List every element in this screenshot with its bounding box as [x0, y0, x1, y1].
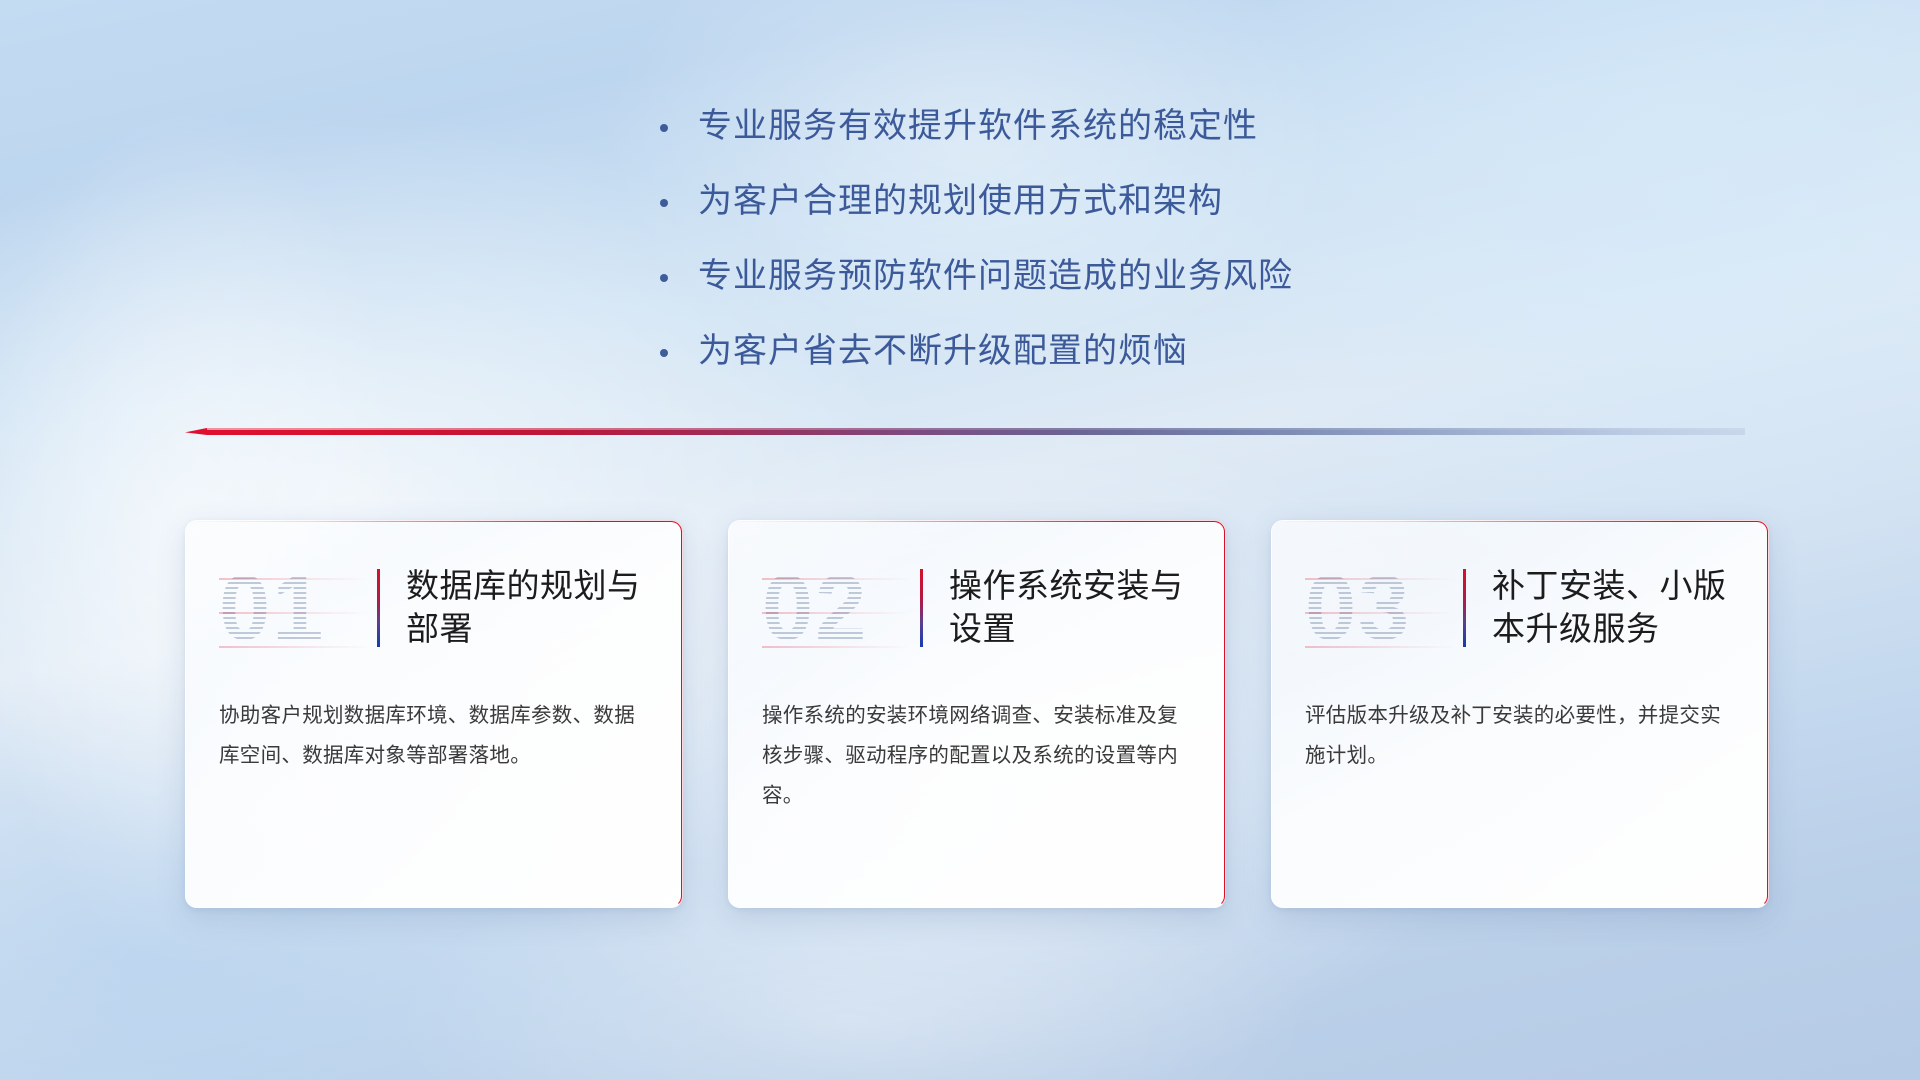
bullet-dot-icon [660, 349, 668, 357]
card-title: 数据库的规划与部署 [406, 565, 642, 651]
card-title-accent-bar [1463, 569, 1466, 647]
card-title: 补丁安装、小版本升级服务 [1492, 565, 1728, 651]
card-header: 03 补丁安装、小版本升级服务 [1271, 520, 1769, 696]
card-body-text: 协助客户规划数据库环境、数据库参数、数据库空间、数据库对象等部署落地。 [185, 696, 683, 776]
bullet-item-text: 专业服务有效提升软件系统的稳定性 [698, 104, 1258, 149]
service-card[interactable]: 02 操作系统安装与设置 操作系统的安装环境网络调查、安装标准及复核步骤、驱动程… [728, 520, 1226, 908]
benefits-bullet-list: 专业服务有效提升软件系统的稳定性 为客户合理的规划使用方式和架构 专业服务预防软… [660, 104, 1560, 404]
bullet-dot-icon [660, 124, 668, 132]
card-number-watermark: 03 [1305, 562, 1455, 654]
bullet-item-text: 专业服务预防软件问题造成的业务风险 [698, 254, 1293, 299]
bullet-dot-icon [660, 274, 668, 282]
card-number-watermark: 01 [219, 562, 369, 654]
divider-highlight [207, 428, 1745, 430]
bullet-item: 专业服务有效提升软件系统的稳定性 [660, 104, 1560, 149]
bullet-dot-icon [660, 199, 668, 207]
bullet-item-text: 为客户合理的规划使用方式和架构 [698, 179, 1223, 224]
bullet-item: 专业服务预防软件问题造成的业务风险 [660, 254, 1560, 299]
service-card[interactable]: 01 数据库的规划与部署 协助客户规划数据库环境、数据库参数、数据库空间、数据库… [185, 520, 683, 908]
service-card[interactable]: 03 补丁安装、小版本升级服务 评估版本升级及补丁安装的必要性，并提交实施计划。 [1271, 520, 1769, 908]
card-title-accent-bar [377, 569, 380, 647]
card-body-text: 操作系统的安装环境网络调查、安装标准及复核步骤、驱动程序的配置以及系统的设置等内… [728, 696, 1226, 816]
bullet-item: 为客户合理的规划使用方式和架构 [660, 179, 1560, 224]
card-header: 02 操作系统安装与设置 [728, 520, 1226, 696]
bullet-item: 为客户省去不断升级配置的烦恼 [660, 329, 1560, 374]
section-divider [185, 424, 1745, 440]
card-header: 01 数据库的规划与部署 [185, 520, 683, 696]
card-body-text: 评估版本升级及补丁安装的必要性，并提交实施计划。 [1271, 696, 1769, 776]
card-title-accent-bar [920, 569, 923, 647]
card-title: 操作系统安装与设置 [949, 565, 1185, 651]
card-number-watermark: 02 [762, 562, 912, 654]
service-card-group: 01 数据库的规划与部署 协助客户规划数据库环境、数据库参数、数据库空间、数据库… [0, 520, 1920, 930]
slide-canvas: 专业服务有效提升软件系统的稳定性 为客户合理的规划使用方式和架构 专业服务预防软… [0, 0, 1920, 1080]
bullet-item-text: 为客户省去不断升级配置的烦恼 [698, 329, 1188, 374]
